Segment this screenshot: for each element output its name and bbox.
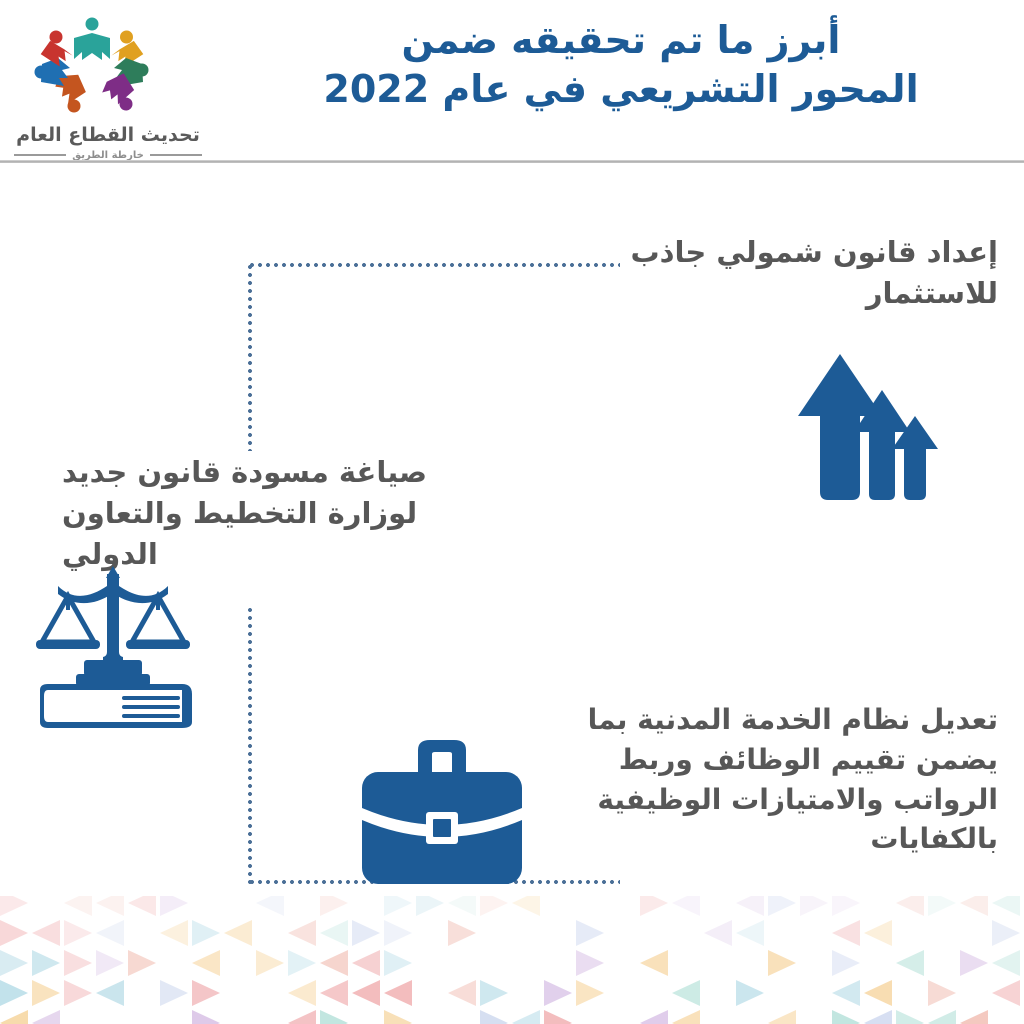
connector-line-vertical-upper (248, 263, 252, 451)
logo-rule-left (14, 154, 66, 156)
node-label-civil-service-system: تعديل نظام الخدمة المدنية بما يضمن تقييم… (528, 700, 998, 859)
connector-line-top (248, 263, 620, 267)
connector-line-vertical-lower (248, 606, 252, 884)
header-divider (0, 160, 1024, 163)
footer-triangle-pattern (0, 896, 1024, 1024)
briefcase-icon (356, 738, 528, 890)
logo-block: تحديث القطاع العام خارطة الطريق (8, 8, 218, 160)
logo-rule-right (150, 154, 202, 156)
node-label-investment-law: إعداد قانون شمولي جاذب للاستثمار (608, 232, 998, 314)
header: تحديث القطاع العام خارطة الطريق أبرز ما … (0, 0, 1024, 163)
scales-of-justice-book-icon (22, 556, 204, 736)
logo-wordmark: تحديث القطاع العام (8, 124, 208, 146)
page-title-line-1: أبرز ما تم تحقيقه ضمن (236, 16, 1006, 65)
circle-of-people-logo-icon (30, 12, 154, 124)
page-title: أبرز ما تم تحقيقه ضمن المحور التشريعي في… (236, 16, 1006, 115)
logo-tagline: خارطة الطريق (72, 150, 144, 161)
page-title-line-2: المحور التشريعي في عام 2022 (236, 65, 1006, 114)
growth-arrows-icon (794, 344, 954, 504)
